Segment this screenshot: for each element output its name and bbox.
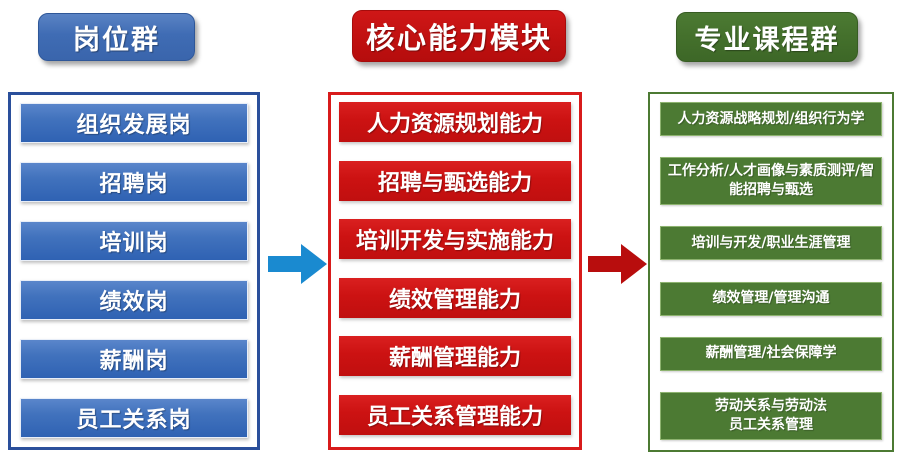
course-item[interactable]: 薪酬管理/社会保障学 (660, 337, 882, 371)
competency-item[interactable]: 培训开发与实施能力 (339, 219, 571, 259)
job-item[interactable]: 绩效岗 (20, 280, 248, 320)
competency-item[interactable]: 绩效管理能力 (339, 278, 571, 318)
job-item[interactable]: 员工关系岗 (20, 398, 248, 438)
competency-item[interactable]: 薪酬管理能力 (339, 336, 571, 376)
job-item[interactable]: 培训岗 (20, 221, 248, 261)
course-item[interactable]: 人力资源战略规划/组织行为学 (660, 102, 882, 136)
competency-item[interactable]: 人力资源规划能力 (339, 102, 571, 142)
header-jobs: 岗位群 (38, 13, 195, 61)
course-item[interactable]: 工作分析/人才画像与素质测评/智能招聘与甄选 (660, 157, 882, 205)
job-item[interactable]: 组织发展岗 (20, 103, 248, 143)
column-jobs-list: 组织发展岗 招聘岗 培训岗 绩效岗 薪酬岗 员工关系岗 (11, 95, 257, 447)
job-item[interactable]: 薪酬岗 (20, 339, 248, 379)
arrow-jobs-to-competency-icon (268, 243, 328, 285)
arrow-competency-to-courses-icon (588, 243, 648, 285)
header-courses: 专业课程群 (676, 12, 858, 62)
course-item[interactable]: 培训与开发/职业生涯管理 (660, 226, 882, 260)
course-item[interactable]: 劳动关系与劳动法员工关系管理 (660, 392, 882, 440)
column-courses-list: 人力资源战略规划/组织行为学 工作分析/人才画像与素质测评/智能招聘与甄选 培训… (650, 94, 892, 450)
job-item[interactable]: 招聘岗 (20, 162, 248, 202)
competency-item[interactable]: 招聘与甄选能力 (339, 161, 571, 201)
course-item[interactable]: 绩效管理/管理沟通 (660, 282, 882, 316)
header-competency: 核心能力模块 (352, 10, 566, 62)
column-competency: 人力资源规划能力 招聘与甄选能力 培训开发与实施能力 绩效管理能力 薪酬管理能力… (328, 92, 582, 450)
column-courses: 人力资源战略规划/组织行为学 工作分析/人才画像与素质测评/智能招聘与甄选 培训… (648, 92, 894, 452)
competency-item[interactable]: 员工关系管理能力 (339, 395, 571, 435)
column-jobs: 组织发展岗 招聘岗 培训岗 绩效岗 薪酬岗 员工关系岗 (8, 92, 260, 450)
column-competency-list: 人力资源规划能力 招聘与甄选能力 培训开发与实施能力 绩效管理能力 薪酬管理能力… (331, 95, 579, 447)
diagram-canvas: 岗位群 核心能力模块 专业课程群 组织发展岗 招聘岗 培训岗 绩效岗 薪酬岗 员… (0, 0, 899, 459)
